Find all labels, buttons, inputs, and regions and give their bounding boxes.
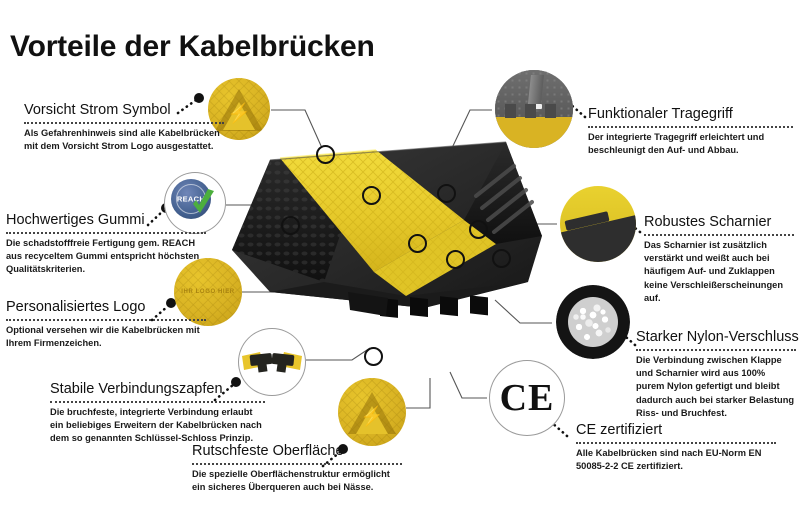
callout-body: Der integrierte Tragegriff erleichtert u… bbox=[588, 131, 793, 157]
callout-hochwertiges-gummi: Hochwertiges Gummi Die schadstofffreie F… bbox=[6, 213, 206, 277]
callout-body: Die bruchfeste, integrierte Verbindung e… bbox=[50, 406, 265, 446]
callout-heading: Personalisiertes Logo bbox=[6, 300, 206, 316]
callout-heading: Robustes Scharnier bbox=[644, 215, 794, 231]
product-marker-gummi[interactable] bbox=[281, 216, 300, 235]
callout-body: Die Verbindung zwischen Klappe und Schar… bbox=[636, 354, 796, 420]
callout-body: Die spezielle Oberflächenstruktur ermögl… bbox=[192, 468, 402, 494]
infographic-canvas: Vorteile der Kabelbrücken bbox=[0, 0, 800, 525]
callout-divider bbox=[6, 319, 206, 321]
callout-body: Alle Kabelbrücken sind nach EU-Norm EN 5… bbox=[576, 447, 776, 473]
callout-divider bbox=[588, 126, 793, 128]
product-marker-nylon[interactable] bbox=[446, 250, 465, 269]
callout-body: Das Scharnier ist zusätzlich verstärkt u… bbox=[644, 239, 794, 305]
callout-stabile-verbindungszapfen: Stabile Verbindungszapfen Die bruchfeste… bbox=[50, 382, 265, 446]
nylon-pellets bbox=[568, 297, 618, 347]
product-marker-zapfen[interactable] bbox=[364, 347, 383, 366]
product-marker-ce[interactable] bbox=[492, 249, 511, 268]
nylon-granules-icon bbox=[556, 285, 630, 359]
callout-body: Als Gefahrenhinweis sind alle Kabelbrück… bbox=[24, 127, 224, 153]
product-marker-strom[interactable] bbox=[316, 145, 335, 164]
callout-heading: Starker Nylon-Verschluss bbox=[636, 330, 796, 346]
callout-divider bbox=[24, 122, 224, 124]
callout-heading: CE zertifiziert bbox=[576, 423, 776, 439]
callout-heading: Vorsicht Strom Symbol bbox=[24, 103, 224, 119]
product-marker-logo[interactable] bbox=[362, 186, 381, 205]
handle-notch bbox=[525, 104, 536, 118]
callout-ce-zertifiziert: CE zertifiziert Alle Kabelbrücken sind n… bbox=[576, 423, 776, 473]
hinge-icon bbox=[560, 186, 636, 262]
callout-body: Die schadstofffreie Fertigung gem. REACH… bbox=[6, 237, 206, 277]
callout-heading: Funktionaler Tragegriff bbox=[588, 107, 793, 123]
surface-texture-icon: ⚡ bbox=[338, 378, 406, 446]
product-marker-tragegriff[interactable] bbox=[437, 184, 456, 203]
callout-vorsicht-strom-symbol: Vorsicht Strom Symbol Als Gefahrenhinwei… bbox=[24, 103, 224, 153]
cable-ramp-graphic bbox=[228, 132, 546, 330]
callout-rutschfeste-oberflaeche: Rutschfeste Oberfläche Die spezielle Obe… bbox=[192, 444, 402, 494]
callout-divider bbox=[6, 232, 206, 234]
callout-divider bbox=[50, 401, 265, 403]
callout-heading: Rutschfeste Oberfläche bbox=[192, 444, 402, 460]
callout-divider bbox=[576, 442, 776, 444]
lightning-bolt-icon: ⚡ bbox=[360, 408, 384, 427]
callout-body: Optional versehen wir die Kabelbrücken m… bbox=[6, 324, 206, 350]
ce-label: CE bbox=[489, 379, 565, 417]
callout-personalisiertes-logo: Personalisiertes Logo Optional versehen … bbox=[6, 300, 206, 350]
callout-divider bbox=[644, 234, 794, 236]
callout-heading: Hochwertiges Gummi bbox=[6, 213, 206, 229]
ce-mark-icon: CE bbox=[489, 360, 565, 436]
lightning-bolt-icon: ⚡ bbox=[227, 104, 251, 123]
callout-funktionaler-tragegriff: Funktionaler Tragegriff Der integrierte … bbox=[588, 107, 793, 157]
callout-heading: Stabile Verbindungszapfen bbox=[50, 382, 265, 398]
product-marker-scharnier[interactable] bbox=[469, 220, 488, 239]
callout-starker-nylon-verschluss: Starker Nylon-Verschluss Die Verbindung … bbox=[636, 330, 796, 420]
callout-divider bbox=[192, 463, 402, 465]
callout-divider bbox=[636, 349, 796, 351]
handle-notch bbox=[505, 104, 516, 118]
handle-notch bbox=[545, 104, 556, 118]
callout-robustes-scharnier: Robustes Scharnier Das Scharnier ist zus… bbox=[644, 215, 794, 305]
product-marker-oberflaeche[interactable] bbox=[408, 234, 427, 253]
product-image bbox=[228, 132, 546, 330]
